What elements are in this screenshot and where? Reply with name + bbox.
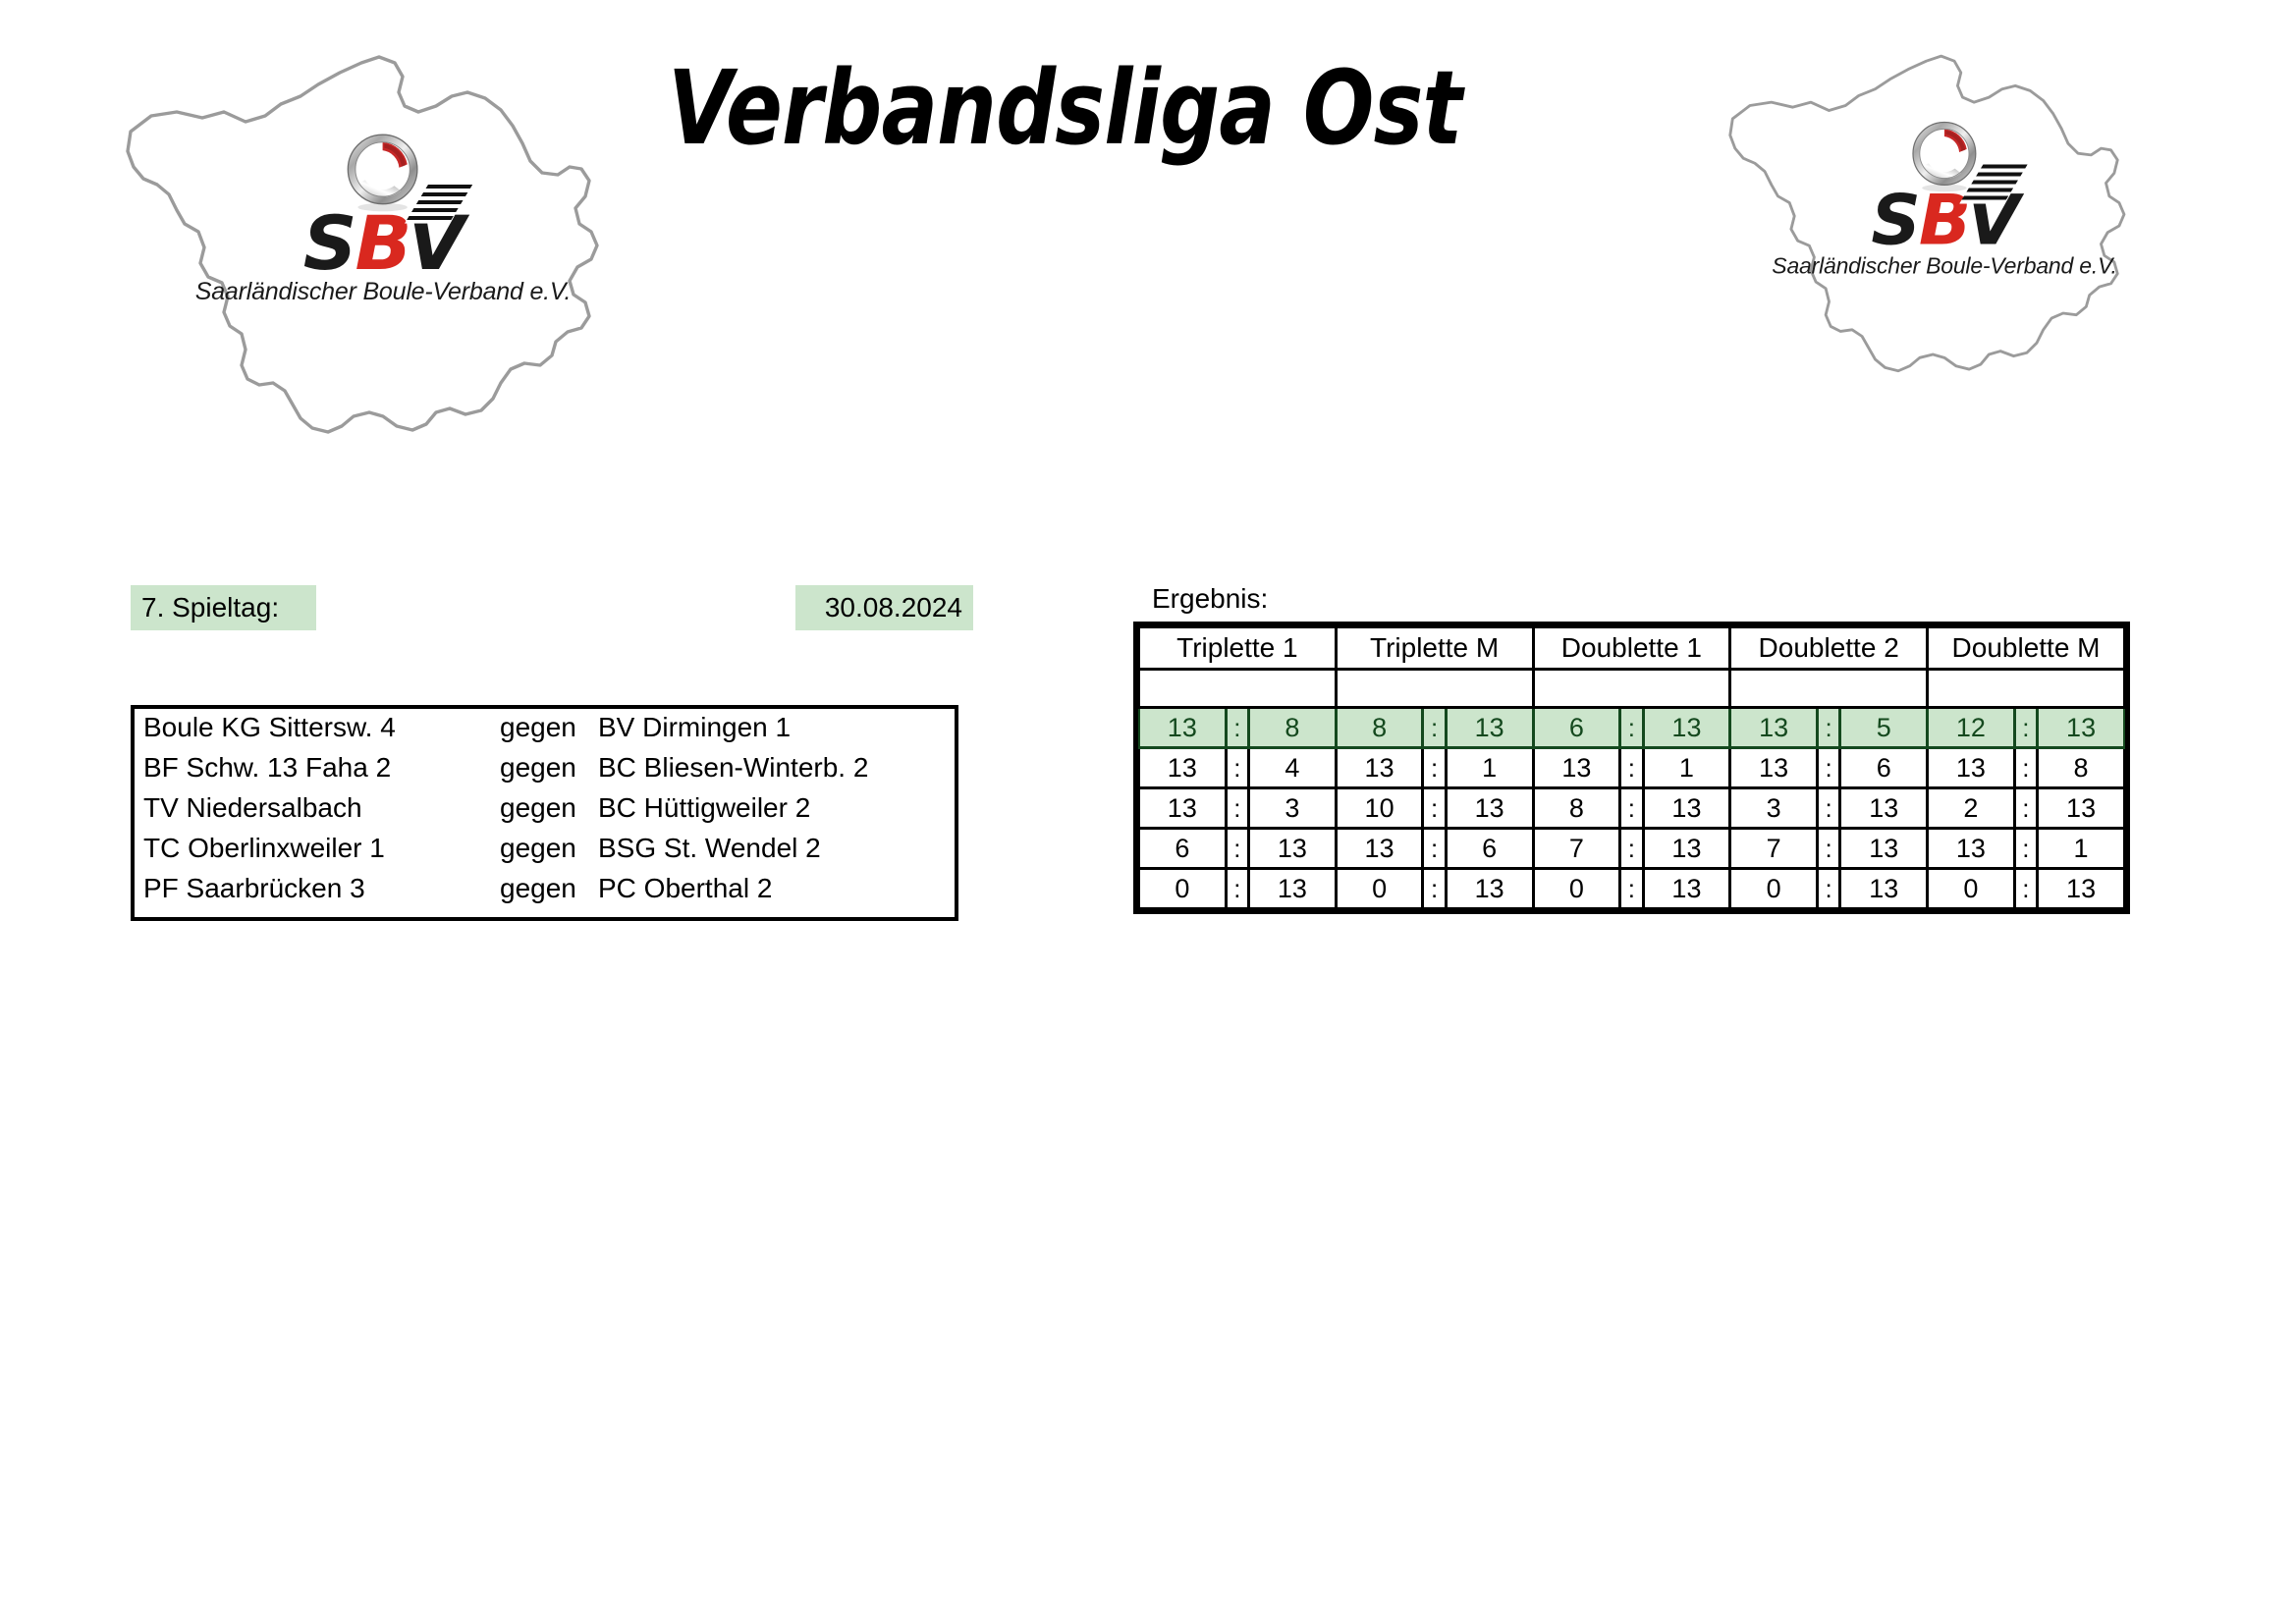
result-away-score: 1 <box>1643 748 1730 788</box>
result-home-score: 8 <box>1336 708 1423 748</box>
results-column-header: Doublette 1 <box>1533 627 1730 670</box>
results-row: 13:88:136:1313:512:13 <box>1139 708 2125 748</box>
result-colon-separator: : <box>1226 748 1248 788</box>
result-home-score: 13 <box>1928 829 2015 869</box>
result-colon-separator: : <box>1620 869 1643 909</box>
sbv-letter-b: B <box>355 199 408 287</box>
results-spacer-row <box>1139 670 2125 708</box>
result-home-score: 7 <box>1533 829 1620 869</box>
result-home-score: 10 <box>1336 788 1423 829</box>
match-home-team: TV Niedersalbach <box>135 792 500 824</box>
result-away-score: 3 <box>1249 788 1337 829</box>
sbv-logo-mark: SBV Saarländischer Boule-Verband e.V. <box>1792 119 2097 279</box>
page-title: Verbandsliga Ost <box>668 57 1461 159</box>
result-home-score: 8 <box>1533 788 1620 829</box>
sbv-letter-b: B <box>1919 180 1967 260</box>
match-versus-label: gegen <box>500 752 598 784</box>
result-home-score: 12 <box>1928 708 2015 748</box>
sbv-wordmark: SBV <box>1871 189 2017 251</box>
result-home-score: 13 <box>1139 748 1227 788</box>
results-table-body: 13:88:136:1313:512:1313:413:113:113:613:… <box>1139 670 2125 909</box>
results-column-header: Doublette 2 <box>1730 627 1928 670</box>
match-versus-label: gegen <box>500 833 598 864</box>
sbv-logo-left: SBV Saarländischer Boule-Verband e.V. <box>108 37 658 469</box>
result-away-score: 5 <box>1840 708 1928 748</box>
result-home-score: 0 <box>1928 869 2015 909</box>
result-away-score: 13 <box>1249 829 1337 869</box>
result-colon-separator: : <box>2014 788 2037 829</box>
sbv-letter-s: S <box>1871 180 1918 260</box>
result-home-score: 7 <box>1730 829 1818 869</box>
matchday-date: 30.08.2024 <box>795 585 973 630</box>
match-row: PF Saarbrücken 3gegenPC Oberthal 2 <box>135 873 955 913</box>
result-home-score: 0 <box>1730 869 1818 909</box>
result-away-score: 13 <box>2038 869 2125 909</box>
result-colon-separator: : <box>1226 788 1248 829</box>
match-away-team: BC Bliesen-Winterb. 2 <box>598 752 955 784</box>
result-home-score: 13 <box>1336 748 1423 788</box>
result-home-score: 6 <box>1533 708 1620 748</box>
match-row: Boule KG Sittersw. 4gegenBV Dirmingen 1 <box>135 712 955 752</box>
results-column-header: Triplette M <box>1336 627 1533 670</box>
results-table-head: Triplette 1Triplette MDoublette 1Doublet… <box>1139 627 2125 670</box>
match-home-team: PF Saarbrücken 3 <box>135 873 500 904</box>
result-away-score: 6 <box>1840 748 1928 788</box>
match-home-team: Boule KG Sittersw. 4 <box>135 712 500 743</box>
results-row: 13:413:113:113:613:8 <box>1139 748 2125 788</box>
result-away-score: 6 <box>1446 829 1533 869</box>
result-away-score: 13 <box>1446 869 1533 909</box>
result-colon-separator: : <box>1226 829 1248 869</box>
result-home-score: 0 <box>1533 869 1620 909</box>
sbv-logo-mark: SBV Saarländischer Boule-Verband e.V. <box>224 132 543 306</box>
result-colon-separator: : <box>1817 708 1839 748</box>
sbv-wordmark: SBV <box>303 210 463 277</box>
match-home-team: BF Schw. 13 Faha 2 <box>135 752 500 784</box>
result-away-score: 13 <box>1446 708 1533 748</box>
results-row: 0:130:130:130:130:13 <box>1139 869 2125 909</box>
result-colon-separator: : <box>1423 708 1446 748</box>
result-colon-separator: : <box>1620 748 1643 788</box>
results-label: Ergebnis: <box>1152 583 1268 615</box>
result-colon-separator: : <box>1817 748 1839 788</box>
results-spacer-cell <box>1139 670 1337 708</box>
result-away-score: 13 <box>1643 829 1730 869</box>
result-away-score: 4 <box>1249 748 1337 788</box>
result-away-score: 13 <box>1840 788 1928 829</box>
result-away-score: 8 <box>1249 708 1337 748</box>
sbv-letter-s: S <box>303 199 355 287</box>
result-home-score: 13 <box>1139 788 1227 829</box>
result-home-score: 13 <box>1730 748 1818 788</box>
match-versus-label: gegen <box>500 792 598 824</box>
result-away-score: 1 <box>1446 748 1533 788</box>
result-colon-separator: : <box>1620 788 1643 829</box>
result-away-score: 13 <box>1643 869 1730 909</box>
result-colon-separator: : <box>1817 829 1839 869</box>
result-home-score: 6 <box>1139 829 1227 869</box>
result-home-score: 3 <box>1730 788 1818 829</box>
result-colon-separator: : <box>2014 869 2037 909</box>
result-away-score: 13 <box>1643 788 1730 829</box>
results-column-header: Triplette 1 <box>1139 627 1337 670</box>
result-home-score: 13 <box>1533 748 1620 788</box>
result-away-score: 13 <box>1643 708 1730 748</box>
result-home-score: 13 <box>1336 829 1423 869</box>
sbv-logo-right: SBV Saarländischer Boule-Verband e.V. <box>1714 39 2175 403</box>
result-home-score: 13 <box>1139 708 1227 748</box>
match-row: TV NiedersalbachgegenBC Hüttigweiler 2 <box>135 792 955 833</box>
result-away-score: 13 <box>1446 788 1533 829</box>
matchday-label: 7. Spieltag: <box>131 585 316 630</box>
match-away-team: PC Oberthal 2 <box>598 873 955 904</box>
result-colon-separator: : <box>2014 829 2037 869</box>
match-away-team: BSG St. Wendel 2 <box>598 833 955 864</box>
result-colon-separator: : <box>1817 869 1839 909</box>
result-away-score: 13 <box>2038 708 2125 748</box>
match-row: TC Oberlinxweiler 1gegenBSG St. Wendel 2 <box>135 833 955 873</box>
match-home-team: TC Oberlinxweiler 1 <box>135 833 500 864</box>
results-spacer-cell <box>1730 670 1928 708</box>
results-column-header: Doublette M <box>1928 627 2125 670</box>
result-away-score: 13 <box>1840 829 1928 869</box>
results-row: 6:1313:67:137:1313:1 <box>1139 829 2125 869</box>
results-table: Triplette 1Triplette MDoublette 1Doublet… <box>1137 625 2126 910</box>
results-row: 13:310:138:133:132:13 <box>1139 788 2125 829</box>
result-home-score: 2 <box>1928 788 2015 829</box>
match-away-team: BV Dirmingen 1 <box>598 712 955 743</box>
result-colon-separator: : <box>1226 869 1248 909</box>
result-home-score: 0 <box>1139 869 1227 909</box>
result-home-score: 13 <box>1730 708 1818 748</box>
result-colon-separator: : <box>1226 708 1248 748</box>
result-colon-separator: : <box>2014 748 2037 788</box>
match-away-team: BC Hüttigweiler 2 <box>598 792 955 824</box>
result-colon-separator: : <box>1817 788 1839 829</box>
result-away-score: 13 <box>1840 869 1928 909</box>
match-versus-label: gegen <box>500 712 598 743</box>
result-away-score: 1 <box>2038 829 2125 869</box>
result-away-score: 13 <box>2038 788 2125 829</box>
results-spacer-cell <box>1928 670 2125 708</box>
result-colon-separator: : <box>1423 869 1446 909</box>
result-colon-separator: : <box>2014 708 2037 748</box>
result-colon-separator: : <box>1620 708 1643 748</box>
result-colon-separator: : <box>1423 829 1446 869</box>
result-away-score: 8 <box>2038 748 2125 788</box>
match-row: BF Schw. 13 Faha 2gegenBC Bliesen-Winter… <box>135 752 955 792</box>
result-home-score: 0 <box>1336 869 1423 909</box>
results-spacer-cell <box>1533 670 1730 708</box>
result-home-score: 13 <box>1928 748 2015 788</box>
match-list: Boule KG Sittersw. 4gegenBV Dirmingen 1B… <box>131 705 958 921</box>
result-colon-separator: : <box>1423 788 1446 829</box>
result-colon-separator: : <box>1423 748 1446 788</box>
results-header-row: Triplette 1Triplette MDoublette 1Doublet… <box>1139 627 2125 670</box>
results-spacer-cell <box>1336 670 1533 708</box>
result-away-score: 13 <box>1249 869 1337 909</box>
match-versus-label: gegen <box>500 873 598 904</box>
result-colon-separator: : <box>1620 829 1643 869</box>
